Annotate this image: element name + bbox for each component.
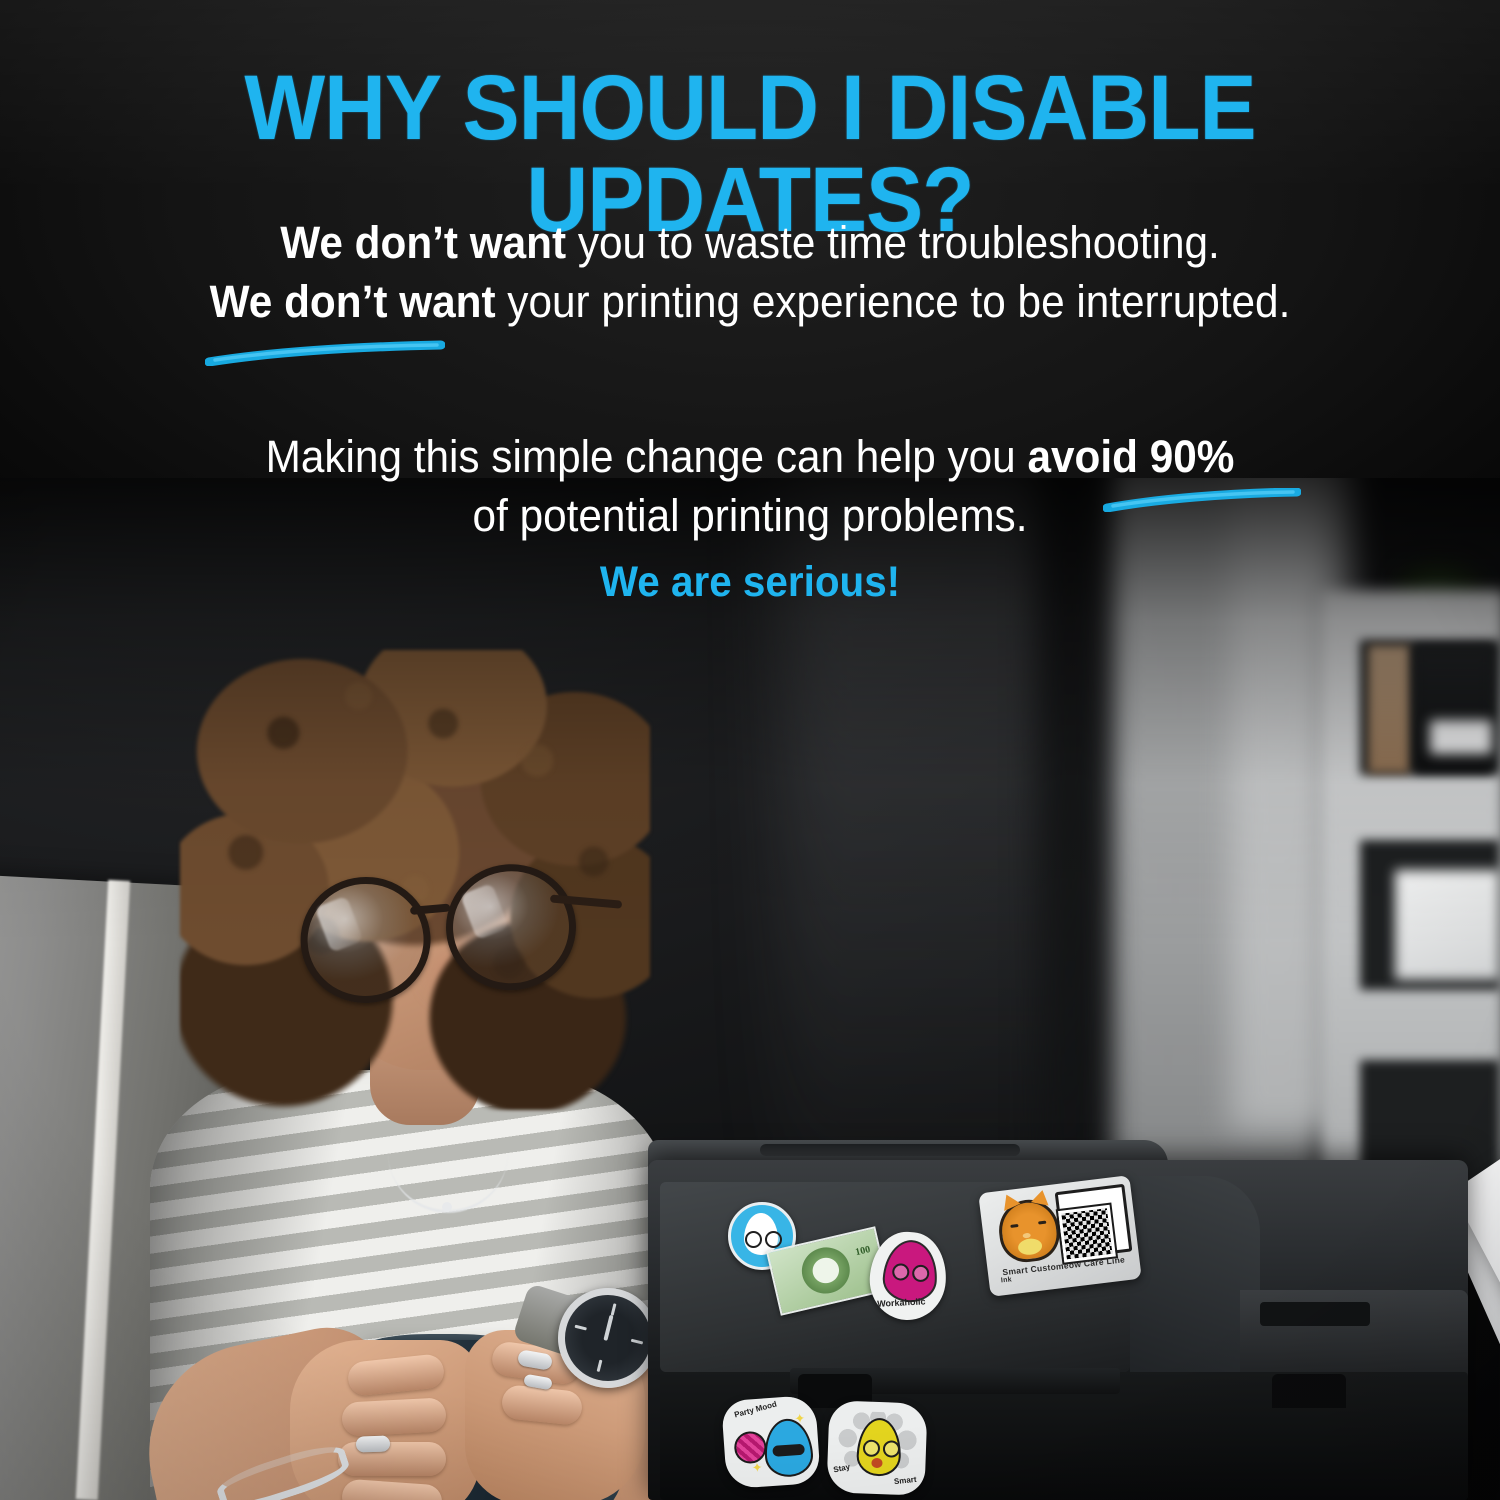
sticker-party-mood-drop: Party Mood ✦ ✦ <box>721 1395 821 1489</box>
inkjet-printer: 100 Workaholic <box>600 1120 1500 1500</box>
eyeglasses <box>295 858 594 1003</box>
sparkle-icon: ✦ <box>751 1461 763 1475</box>
shelf-white-box <box>1395 870 1500 980</box>
sticker-smart-customeow-card: Smart Customeow Care Line Ink <box>978 1175 1142 1297</box>
lens-reflection-left <box>315 896 364 953</box>
copy-line-1-bold: We don’t want <box>280 217 566 268</box>
sticker-stay-smart-drop: Stay Smart <box>826 1400 927 1495</box>
sticker-label-smart: Smart <box>894 1475 918 1486</box>
finger <box>338 1442 446 1476</box>
shelf-binder-white <box>1430 720 1492 754</box>
ring-left-hand <box>356 1435 391 1452</box>
copy-line-3-start: Making this simple change can help you <box>266 431 1028 482</box>
printer-tray-notch-right <box>1272 1374 1346 1408</box>
magenta-ink-drop <box>881 1238 939 1304</box>
copy-line-1-rest: you to waste time troubleshooting. <box>566 217 1220 268</box>
finger <box>341 1397 447 1436</box>
copy-line-2: We don’t want your printing experience t… <box>45 273 1455 332</box>
printer-lid-slot <box>760 1144 1020 1156</box>
lens-reflection-right <box>460 883 509 940</box>
cat-icon <box>996 1196 1063 1265</box>
sticker-label-workaholic: Workaholic <box>877 1296 926 1309</box>
cyan-ink-drop <box>762 1417 814 1478</box>
copy-paragraph-one: We don’t want you to waste time troubles… <box>45 214 1455 331</box>
necklace-pendant <box>442 1202 452 1212</box>
sticker-label-party-mood: Party Mood <box>733 1400 777 1420</box>
copy-emphasis: We are serious! <box>45 555 1455 611</box>
copy-line-3-bold: avoid 90% <box>1027 431 1234 482</box>
shelf-binder-tan <box>1368 645 1410 773</box>
copy-line-2-rest: your printing experience to be interrupt… <box>496 276 1291 327</box>
copy-line-1: We don’t want you to waste time troubles… <box>45 214 1455 273</box>
banknote-portrait <box>797 1243 854 1299</box>
copy-line-4: of potential printing problems. <box>45 487 1455 546</box>
disco-ball-icon <box>733 1430 767 1464</box>
sparkle-icon: ✦ <box>794 1412 806 1426</box>
banknote-denomination: 100 <box>854 1244 871 1258</box>
ad-creative: 100 Workaholic <box>0 0 1500 1500</box>
computer-icon <box>1055 1184 1133 1260</box>
eyeglass-lens-left <box>295 872 435 1009</box>
qr-code <box>1058 1205 1116 1263</box>
printer-right-slot <box>1260 1302 1370 1326</box>
copy-paragraph-two: Making this simple change can help you a… <box>45 428 1455 611</box>
copy-line-3: Making this simple change can help you a… <box>45 428 1455 487</box>
copy-line-2-bold: We don’t want <box>210 276 496 327</box>
eyeglass-lens-right <box>441 859 581 996</box>
